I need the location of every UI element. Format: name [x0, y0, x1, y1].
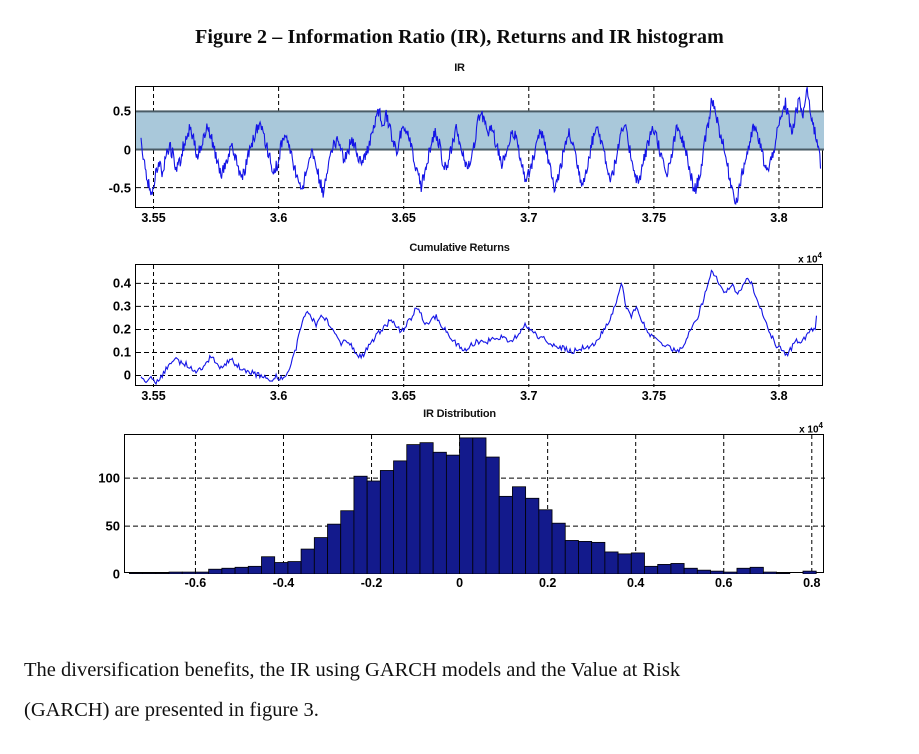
y-tick-label: 0.3 — [113, 299, 131, 314]
y-tick-label: 100 — [98, 471, 120, 486]
chart-cumret-panel: Cumulative Returns x 104 3.553.63.653.73… — [0, 242, 919, 414]
histogram-bars — [129, 438, 816, 574]
histogram-bar — [341, 511, 354, 574]
x-tick-label: 0.2 — [539, 576, 556, 590]
histogram-bar — [512, 487, 525, 574]
chart-hist-title: IR Distribution — [0, 408, 919, 420]
histogram-bar — [446, 455, 459, 574]
body-paragraph-line-2: (GARCH) are presented in figure 3. — [24, 690, 896, 730]
histogram-bar — [460, 438, 473, 574]
x-tick-label: 0.6 — [715, 576, 732, 590]
histogram-bar — [129, 573, 142, 574]
histogram-bar — [195, 572, 208, 574]
histogram-bar — [605, 552, 618, 574]
histogram-bar — [552, 523, 565, 574]
histogram-bar — [631, 553, 644, 574]
figure-caption: Figure 2 – Information Ratio (IR), Retur… — [0, 26, 919, 49]
y-tick-label: 0.2 — [113, 322, 131, 337]
histogram-bar — [354, 476, 367, 574]
histogram-bar — [724, 572, 737, 574]
histogram-bar — [209, 569, 222, 574]
y-tick-label: 0 — [113, 567, 120, 582]
y-tick-label: 0.4 — [113, 276, 131, 291]
figure-page: Figure 2 – Information Ratio (IR), Retur… — [0, 0, 919, 754]
histogram-bar — [658, 564, 671, 574]
chart-hist-plot — [125, 435, 825, 574]
histogram-bar — [803, 571, 816, 574]
histogram-bar — [275, 563, 288, 575]
histogram-bar — [407, 445, 420, 574]
histogram-bar — [737, 568, 750, 574]
series-line — [141, 270, 816, 383]
y-tick-label: -0.5 — [109, 180, 131, 195]
x-tick-label: 3.7 — [520, 211, 537, 225]
x-tick-label: -0.4 — [273, 576, 295, 590]
histogram-bar — [684, 568, 697, 574]
histogram-bar — [592, 542, 605, 574]
chart-cumret-plot — [136, 265, 824, 387]
histogram-bar — [182, 572, 195, 574]
histogram-bar — [367, 481, 380, 574]
chart-cumret-exponent: x 104 — [798, 251, 822, 265]
x-tick-label: 3.8 — [770, 389, 787, 403]
histogram-bar — [777, 573, 790, 574]
histogram-bar — [248, 566, 261, 574]
histogram-bar — [288, 562, 301, 574]
histogram-bar — [618, 554, 631, 574]
x-tick-label: 0 — [456, 576, 463, 590]
x-tick-label: 3.6 — [270, 211, 287, 225]
histogram-bar — [526, 498, 539, 574]
x-tick-label: 3.65 — [392, 211, 416, 225]
histogram-bar — [565, 540, 578, 574]
histogram-bar — [314, 538, 327, 574]
histogram-bar — [697, 570, 710, 574]
y-tick-label: 0 — [124, 368, 131, 383]
y-tick-label: 0.5 — [113, 104, 131, 119]
histogram-bar — [235, 567, 248, 574]
histogram-bar — [711, 571, 724, 574]
chart-ir-title: IR — [0, 62, 919, 74]
histogram-bar — [750, 567, 763, 574]
histogram-bar — [499, 496, 512, 574]
x-tick-label: 0.8 — [803, 576, 820, 590]
histogram-bar — [143, 573, 156, 574]
x-tick-label: -0.2 — [361, 576, 383, 590]
chart-hist-exponent: x 104 — [799, 421, 823, 435]
histogram-bar — [763, 572, 776, 574]
histogram-bar — [169, 572, 182, 574]
histogram-bar — [328, 524, 341, 574]
histogram-bar — [578, 541, 591, 574]
x-tick-label: 3.6 — [270, 389, 287, 403]
histogram-bar — [539, 510, 552, 574]
histogram-bar — [156, 573, 169, 574]
chart-hist-panel: IR Distribution x 104 -0.6-0.4-0.200.20.… — [0, 408, 919, 618]
histogram-bar — [380, 470, 393, 574]
x-tick-label: 0.4 — [627, 576, 644, 590]
histogram-bar — [394, 461, 407, 574]
chart-ir-axes[interactable]: 3.553.63.653.73.753.80.50-0.5 — [135, 86, 823, 208]
body-paragraph-line-1: The diversification benefits, the IR usi… — [24, 659, 680, 681]
histogram-bar — [645, 566, 658, 574]
x-tick-label: 3.75 — [642, 389, 666, 403]
histogram-bar — [671, 563, 684, 574]
x-tick-label: 3.55 — [141, 389, 165, 403]
x-tick-label: -0.6 — [185, 576, 207, 590]
x-tick-label: 3.75 — [642, 211, 666, 225]
histogram-bar — [473, 438, 486, 574]
body-paragraph: The diversification benefits, the IR usi… — [24, 650, 896, 730]
chart-cumret-axes[interactable]: x 104 3.553.63.653.73.753.80.40.30.20.10 — [135, 264, 823, 386]
chart-hist-axes[interactable]: x 104 -0.6-0.4-0.200.20.40.60.8050100 — [124, 434, 824, 573]
x-tick-label: 3.8 — [770, 211, 787, 225]
x-tick-label: 3.7 — [520, 389, 537, 403]
chart-cumret-title: Cumulative Returns — [0, 242, 919, 254]
histogram-bar — [433, 452, 446, 574]
x-tick-label: 3.65 — [392, 389, 416, 403]
histogram-bar — [420, 443, 433, 574]
histogram-bar — [261, 557, 274, 574]
x-tick-label: 3.55 — [141, 211, 165, 225]
histogram-bar — [222, 568, 235, 574]
chart-ir-panel: IR 3.553.63.653.73.753.80.50-0.5 — [0, 62, 919, 240]
y-tick-label: 0 — [124, 142, 131, 157]
histogram-bar — [486, 457, 499, 574]
y-tick-label: 50 — [106, 519, 120, 534]
chart-ir-plot — [136, 87, 824, 209]
y-tick-label: 0.1 — [113, 345, 131, 360]
histogram-bar — [301, 549, 314, 574]
